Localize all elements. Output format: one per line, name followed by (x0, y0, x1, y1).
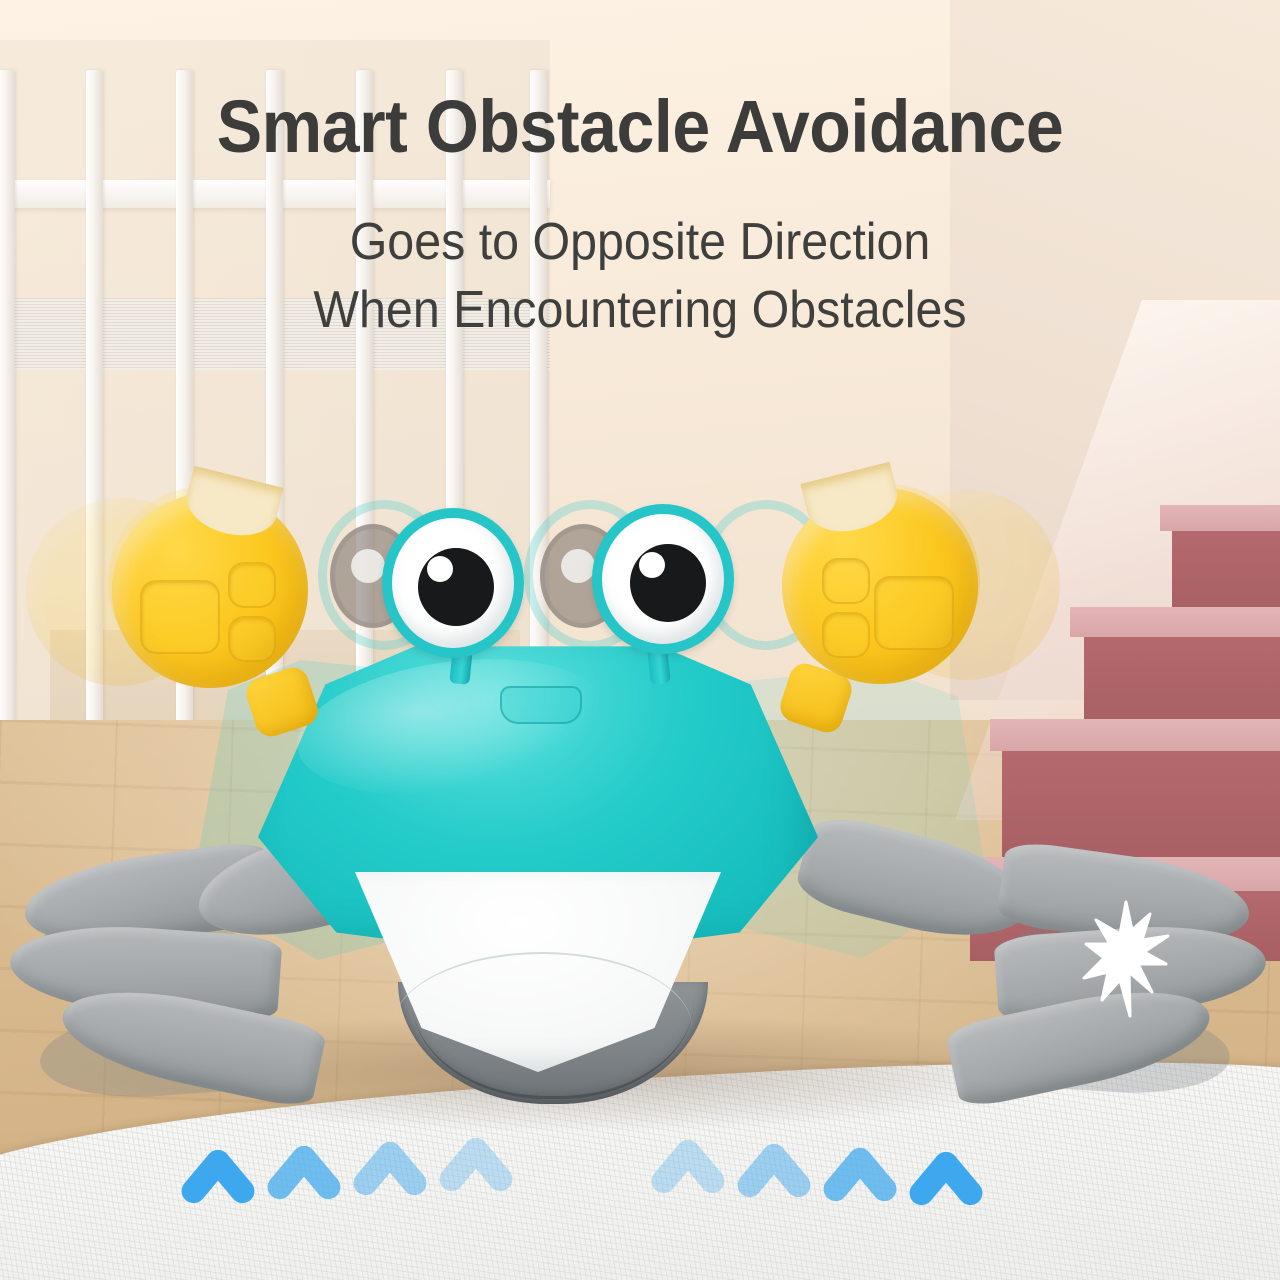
claw-pad (140, 580, 220, 654)
subtitle-line-1: Goes to Opposite Direction (45, 212, 1235, 272)
crab-claw-right (782, 488, 978, 684)
claw-pincer-notch (180, 466, 283, 545)
shell-indent (500, 686, 582, 724)
right-chevron-icon (934, 1152, 958, 1256)
claw-pincer-notch (800, 462, 903, 541)
product-feature-image: Smart Obstacle Avoidance Goes to Opposit… (0, 0, 1280, 1280)
right-chevron-icon (762, 1144, 786, 1248)
crab-eye-left (382, 508, 524, 658)
crawling-crab-toy (0, 0, 1280, 1280)
right-chevron-icon (848, 1148, 872, 1252)
left-chevron-icon (464, 1138, 488, 1242)
claw-pad (228, 562, 276, 608)
claw-pad (822, 612, 870, 658)
left-chevron-icon (378, 1142, 402, 1246)
claw-pad (874, 576, 954, 650)
left-chevron-icon (292, 1146, 316, 1250)
subtitle-line-2: When Encountering Obstacles (45, 280, 1235, 340)
crab-eye-right (592, 504, 734, 654)
right-chevron-icon (676, 1140, 700, 1244)
belly-seam-line (392, 952, 692, 1104)
page-title: Smart Obstacle Avoidance (51, 84, 1229, 169)
left-chevron-icon (206, 1150, 230, 1254)
pupil-right (630, 544, 706, 622)
pupil-left (418, 548, 494, 626)
claw-pad (228, 616, 276, 662)
crab-claw-left (112, 492, 308, 688)
collision-burst-icon (1082, 900, 1172, 1018)
claw-pad (822, 558, 870, 604)
